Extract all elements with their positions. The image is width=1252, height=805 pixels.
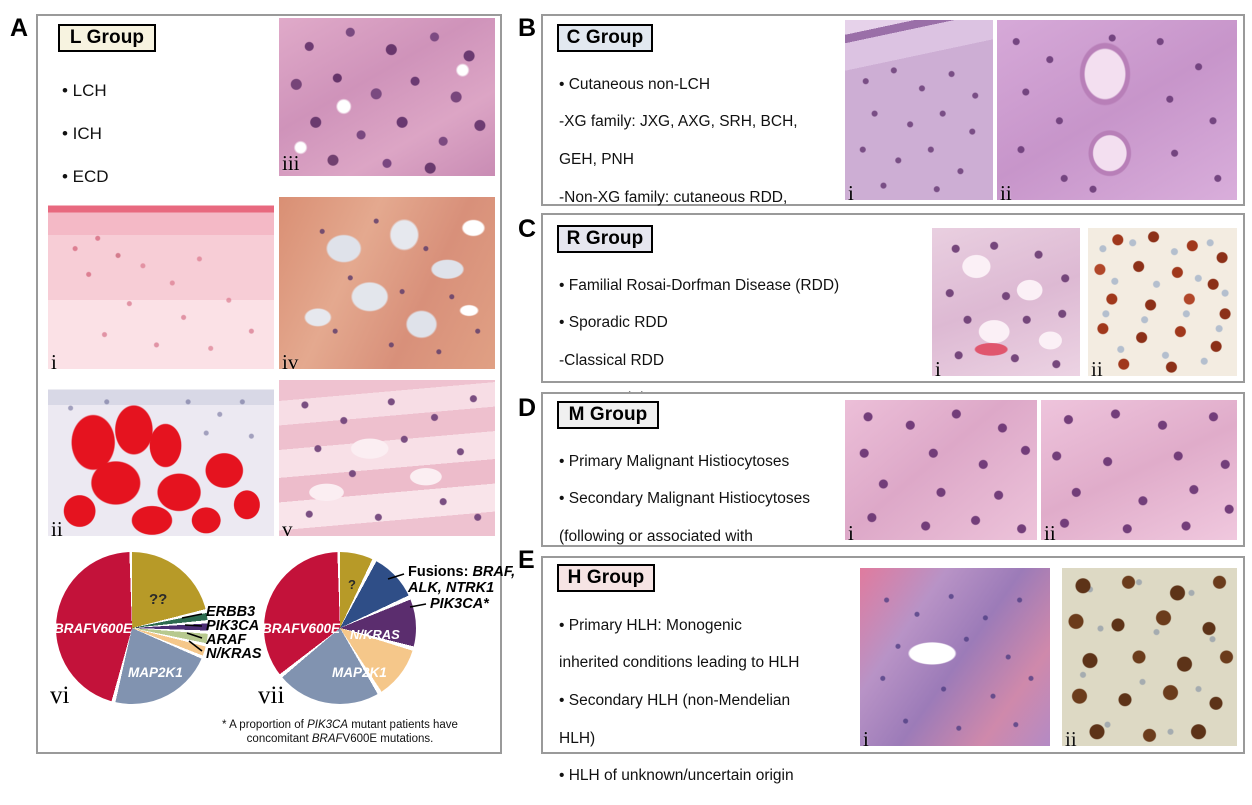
bullet: • Cutaneous non-LCH [559,76,859,95]
bullet: • Secondary Malignant Histiocytoses [559,490,859,509]
micrograph-label: ii [1044,523,1056,540]
panel-letter-a: A [10,16,28,41]
micrograph-a-iii: iii [279,18,495,176]
pie-chart-vii: BRAFV600E ? N/KRAS MAP2K1 Fusions: BRAF,… [264,552,494,712]
pie-vi-numeral: vi [50,683,69,708]
micrograph-c-i: i [932,228,1080,376]
bullet: -XG family: JXG, AXG, SRH, BCH, [559,113,859,132]
micrograph-a-v: v [279,380,495,536]
bullet: • Sporadic RDD [559,314,889,333]
bullet: • Familial Rosai-Dorfman Disease (RDD) [559,277,889,296]
micrograph-label: ii [51,519,63,536]
micrograph-c-ii: ii [1088,228,1237,376]
panel-letter-d: D [518,396,536,421]
group-chip-l-label: L Group [70,27,144,49]
bullet: HLH) [559,730,859,749]
group-chip-r-label: R Group [567,228,644,250]
pie-vi-legend-nkras: N/KRAS [206,646,262,662]
group-chip-h-label: H Group [568,567,645,589]
bullet: • HLH of unknown/uncertain origin [559,767,859,786]
micrograph-label: v [282,519,293,536]
group-chip-c-label: C Group [567,27,644,49]
pie-vii-legend-fusions-line1: Fusions: BRAF, [408,564,515,580]
micrograph-label: iv [282,352,298,369]
bullet: (following or associated with [559,528,859,547]
bullet: • ICH [62,123,272,145]
micrograph-d-ii: ii [1041,400,1237,540]
group-chip-l: L Group [58,24,156,52]
fusion-genes-1: BRAF, [472,564,515,580]
bullet: • Secondary HLH (non-Mendelian [559,692,859,711]
group-chip-h: H Group [557,564,655,592]
micrograph-a-iv: iv [279,197,495,369]
pie-vii-legend-fusions-line2: ALK, NTRK1 [408,580,494,596]
bullet: inherited conditions leading to HLH [559,654,859,673]
micrograph-e-ii: ii [1062,568,1237,746]
bullet: GEH, PNH [559,151,859,170]
micrograph-label: ii [1000,183,1012,200]
micrograph-label: i [863,729,869,746]
group-chip-r: R Group [557,225,653,253]
figure-histiocytosis-classification: A L Group • LCH • ICH • ECD • Mixed LCH/… [0,0,1252,768]
panel-letter-c: C [518,217,536,242]
micrograph-a-ii: ii [48,380,274,536]
footnote-line-1: * A proportion of PIK3CA mutant patients… [190,718,490,732]
footnote-line-2: concomitant BRAFV600E mutations. [190,732,490,746]
group-chip-c: C Group [557,24,653,52]
pie-vii-legend-pik3ca: PIK3CA* [430,596,489,612]
bullet: -Classical RDD [559,352,889,371]
bullet: -Non-XG family: cutaneous RDD, [559,189,859,208]
micrograph-b-ii: ii [997,20,1237,200]
micrograph-label: iii [282,153,300,174]
bullet: • Primary HLH: Monogenic [559,617,859,636]
pie-vii-numeral: vii [258,683,284,708]
micrograph-label: ii [1065,729,1077,746]
pie-footnote: * A proportion of PIK3CA mutant patients… [190,718,490,746]
panel-e-bullets: • Primary HLH: Monogenic inherited condi… [559,598,859,805]
micrograph-label: i [848,523,854,540]
bullet: • ECD [62,166,272,188]
pie-chart-vi: BRAFV600E ?? MAP2K1 ERBB3 PIK3CA ARAF N/… [56,552,256,712]
micrograph-a-i: i [48,197,274,369]
panel-letter-e: E [518,548,535,573]
group-chip-m-label: M Group [569,404,648,426]
micrograph-d-i: i [845,400,1037,540]
bullet: • LCH [62,80,272,102]
micrograph-label: i [935,359,941,376]
micrograph-e-i: i [860,568,1050,746]
micrograph-label: ii [1091,359,1103,376]
panel-letter-b: B [518,16,536,41]
bullet: • Primary Malignant Histiocytoses [559,453,859,472]
micrograph-label: i [51,352,57,369]
micrograph-b-i: i [845,20,993,200]
micrograph-label: i [848,183,854,200]
group-chip-m: M Group [557,401,659,429]
